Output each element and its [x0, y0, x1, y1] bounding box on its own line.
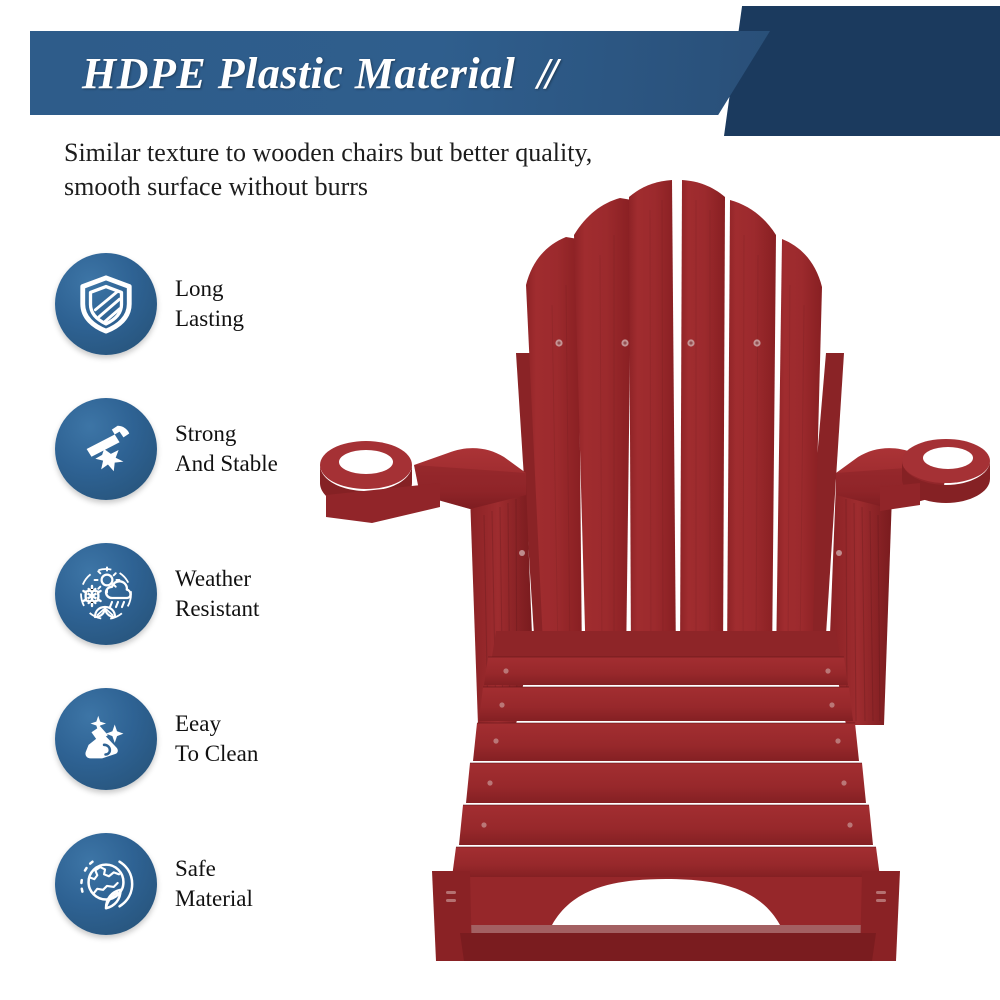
hammer-icon — [75, 418, 137, 480]
banner-accent-shape — [724, 6, 1000, 136]
feature-list: Long Lasting Strong And Stable — [55, 248, 345, 938]
globe-leaf-icon — [75, 853, 137, 915]
feature-label-line-2: Material — [175, 884, 253, 914]
feature-badge-easy-to-clean — [55, 688, 157, 790]
feature-label-long-lasting: Long Lasting — [175, 274, 244, 334]
clean-hand-icon — [75, 708, 137, 770]
product-image-adirondack-chair — [320, 165, 1000, 965]
feature-label-line-1: Strong — [175, 419, 278, 449]
feature-item-easy-to-clean: Eeay To Clean — [55, 683, 345, 795]
feature-badge-strong-and-stable — [55, 398, 157, 500]
feature-label-line-2: Lasting — [175, 304, 244, 334]
feature-badge-long-lasting — [55, 253, 157, 355]
feature-label-easy-to-clean: Eeay To Clean — [175, 709, 258, 769]
page-title: HDPE Plastic Material// — [82, 40, 722, 108]
feature-label-line-1: Eeay — [175, 709, 258, 739]
slash-decoration-icon: // — [537, 40, 553, 108]
feature-item-weather-resistant: Weather Resistant — [55, 538, 345, 650]
page-title-text: HDPE Plastic Material — [82, 49, 515, 98]
feature-label-line-1: Safe — [175, 854, 253, 884]
feature-item-long-lasting: Long Lasting — [55, 248, 345, 360]
feature-label-weather-resistant: Weather Resistant — [175, 564, 259, 624]
weather-icon — [74, 562, 138, 626]
feature-label-line-2: Resistant — [175, 594, 259, 624]
feature-label-line-2: And Stable — [175, 449, 278, 479]
shield-icon — [75, 273, 137, 335]
feature-label-line-1: Weather — [175, 564, 259, 594]
feature-badge-weather-resistant — [55, 543, 157, 645]
feature-label-line-1: Long — [175, 274, 244, 304]
feature-item-strong-and-stable: Strong And Stable — [55, 393, 345, 505]
feature-label-strong-and-stable: Strong And Stable — [175, 419, 278, 479]
feature-label-safe-material: Safe Material — [175, 854, 253, 914]
feature-item-safe-material: Safe Material — [55, 828, 345, 940]
feature-label-line-2: To Clean — [175, 739, 258, 769]
feature-badge-safe-material — [55, 833, 157, 935]
